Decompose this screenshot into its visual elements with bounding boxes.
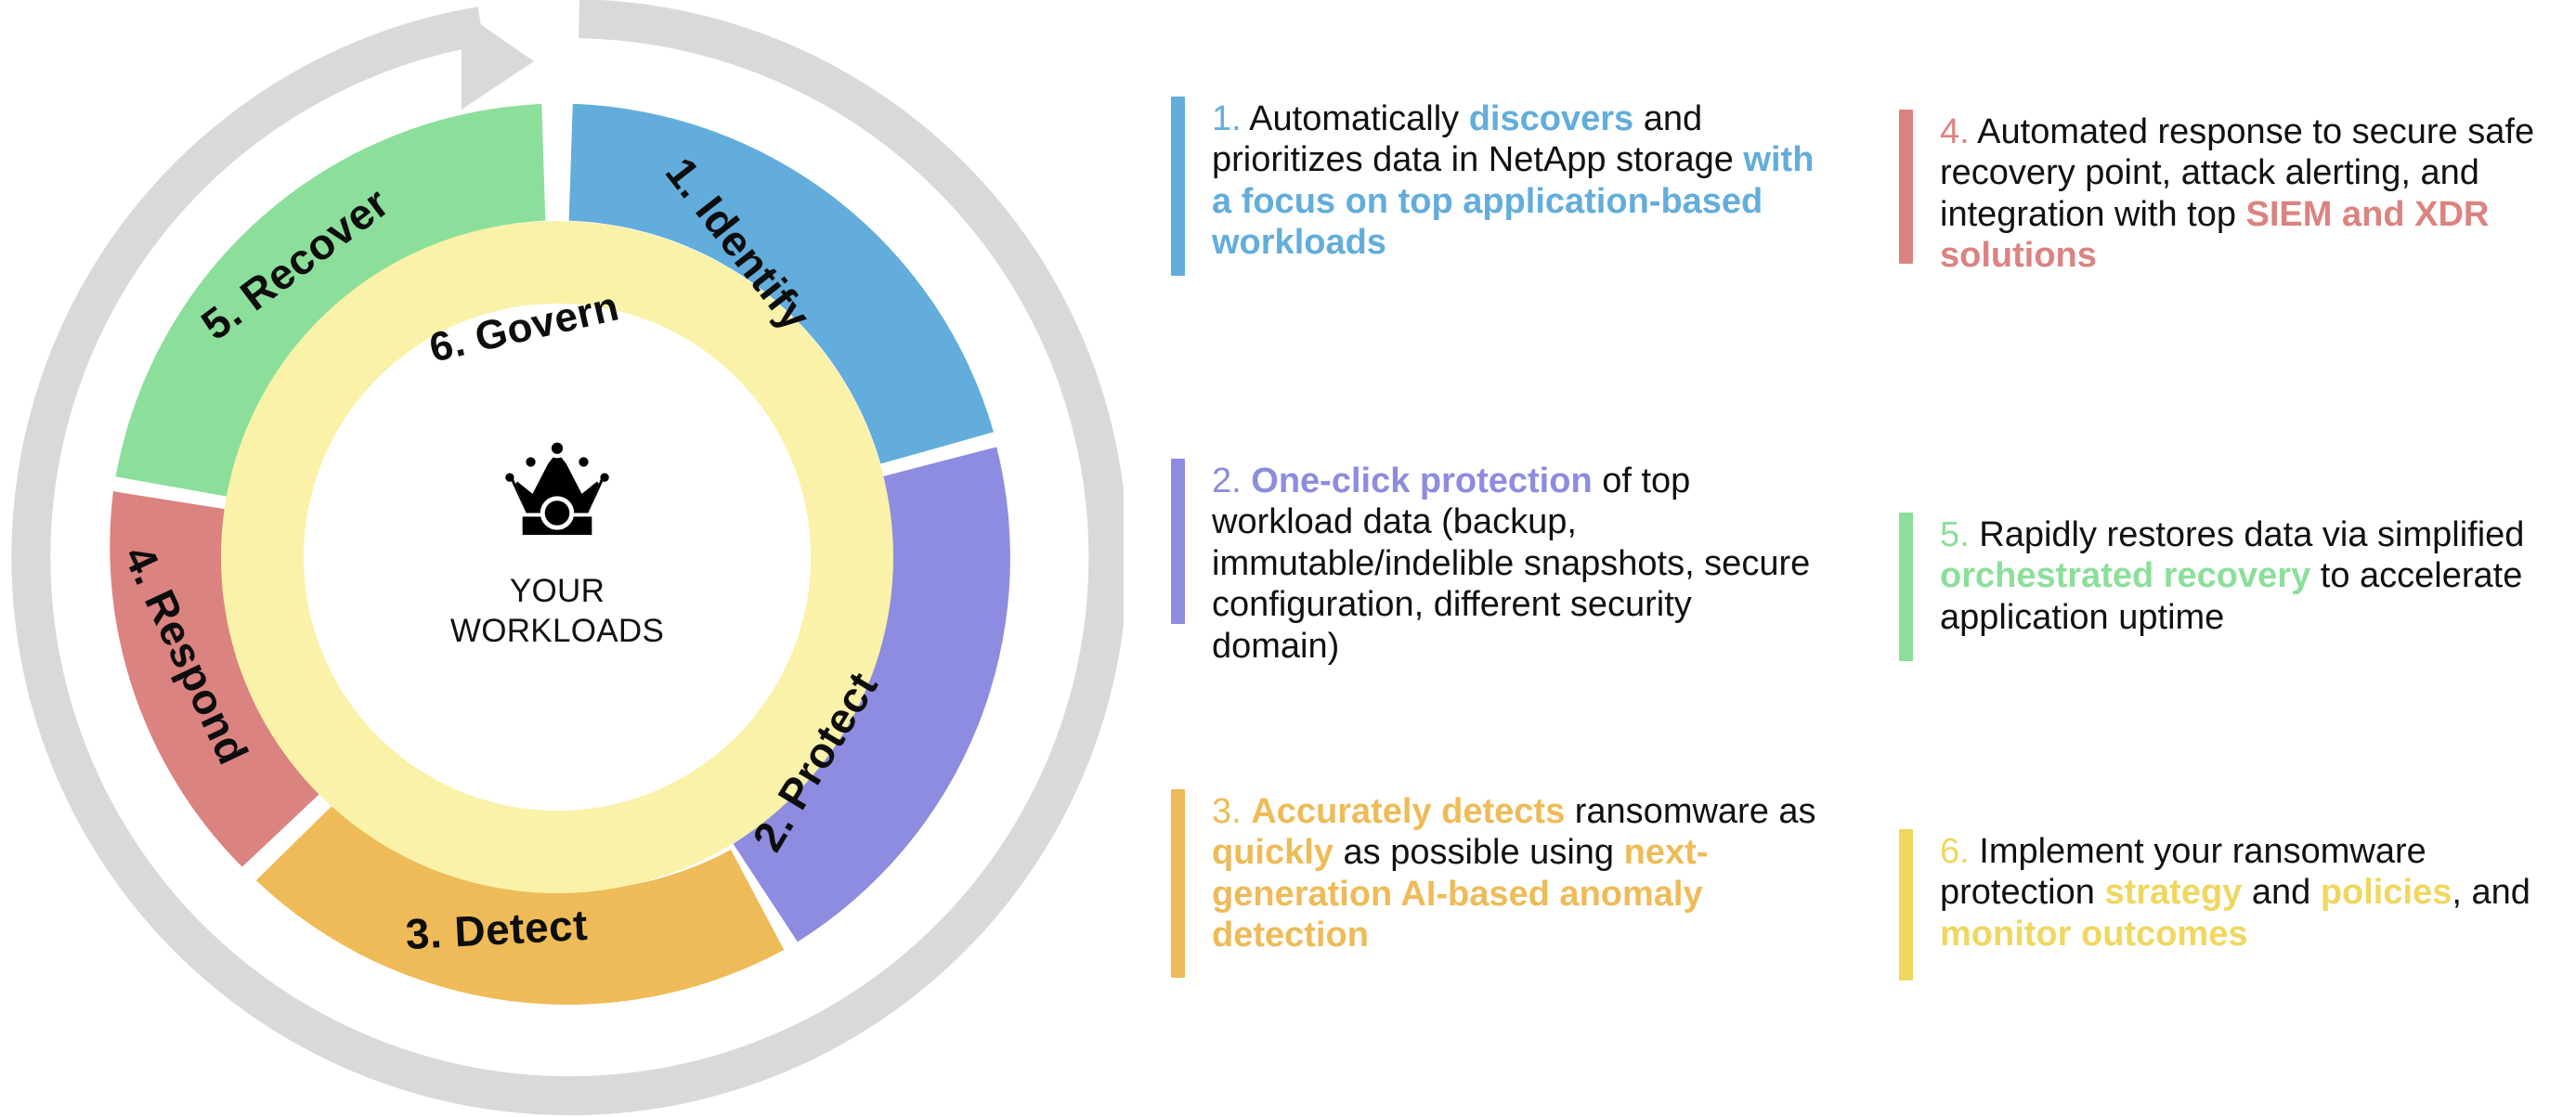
item-text-run: monitor outcomes [1940,915,2247,954]
item-text-run: One-click protection [1251,461,1592,500]
item-text-run: 5. [1940,515,1970,554]
item-text-run: quickly [1212,833,1334,872]
capability-item-recover[interactable]: 5. Rapidly restores data via simplified … [1899,513,2540,661]
item-text: 3. Accurately detects ransomware as quic… [1212,789,1821,956]
item-text-run: , and [2452,873,2530,912]
item-text-run [1242,461,1252,500]
item-text-run: ransomware as [1565,792,1815,831]
item-text-run: Automatically [1242,99,1469,138]
ransomware-lifecycle-infographic: 1. Identify 2. Protect 3. Detect 4. Resp… [0,0,2576,1117]
capability-item-detect[interactable]: 3. Accurately detects ransomware as quic… [1171,789,1821,978]
item-text-run: and [2242,873,2321,912]
item-accent-bar [1899,513,1913,661]
item-text-run [1242,792,1252,831]
item-text-run: Accurately detects [1251,792,1565,831]
item-text-run: 4. [1940,112,1970,151]
center-caption: YOUR WORKLOADS [450,572,664,651]
item-text: 1. Automatically discovers and prioritiz… [1212,97,1821,264]
item-text: 2. One-click protection of top workload … [1212,459,1821,667]
item-accent-bar [1899,829,1913,981]
item-text-run: 1. [1212,99,1242,138]
capability-item-identify[interactable]: 1. Automatically discovers and prioritiz… [1171,97,1821,276]
items-column-left: 1. Automatically discovers and prioritiz… [1171,0,1821,1117]
item-text-run: strategy [2104,873,2242,912]
item-text-run: 2. [1212,461,1242,500]
center-block: YOUR WORKLOADS [367,436,748,706]
item-text: 5. Rapidly restores data via simplified … [1940,513,2540,638]
item-text: 4. Automated response to secure safe rec… [1940,110,2540,277]
item-text-run: 3. [1212,792,1242,831]
item-accent-bar [1899,110,1913,264]
item-accent-bar [1171,789,1185,978]
capability-item-respond[interactable]: 4. Automated response to secure safe rec… [1899,110,2540,277]
item-accent-bar [1171,459,1185,624]
item-text-run: discovers [1469,99,1633,138]
capability-items-panel: 1. Automatically discovers and prioritiz… [1165,0,2576,1117]
crown-icon [488,436,626,539]
item-text-run: Rapidly restores data via simplified [1970,515,2525,554]
capability-item-govern[interactable]: 6. Implement your ransomware protection … [1899,829,2540,981]
item-text-run: orchestrated recovery [1940,556,2310,595]
item-accent-bar [1171,97,1185,276]
item-text: 6. Implement your ransomware protection … [1940,829,2540,955]
item-text-run: policies [2321,873,2452,912]
capability-item-protect[interactable]: 2. One-click protection of top workload … [1171,459,1821,667]
segment-label-detect: 3. Detect [404,901,589,958]
segment-label-detect-text: 3. Detect [404,901,589,958]
item-text-run: as possible using [1334,833,1624,872]
item-text-run: 6. [1940,832,1970,871]
lifecycle-wheel-diagram: 1. Identify 2. Protect 3. Detect 4. Resp… [0,0,1142,1117]
items-column-right: 4. Automated response to secure safe rec… [1899,0,2549,1117]
